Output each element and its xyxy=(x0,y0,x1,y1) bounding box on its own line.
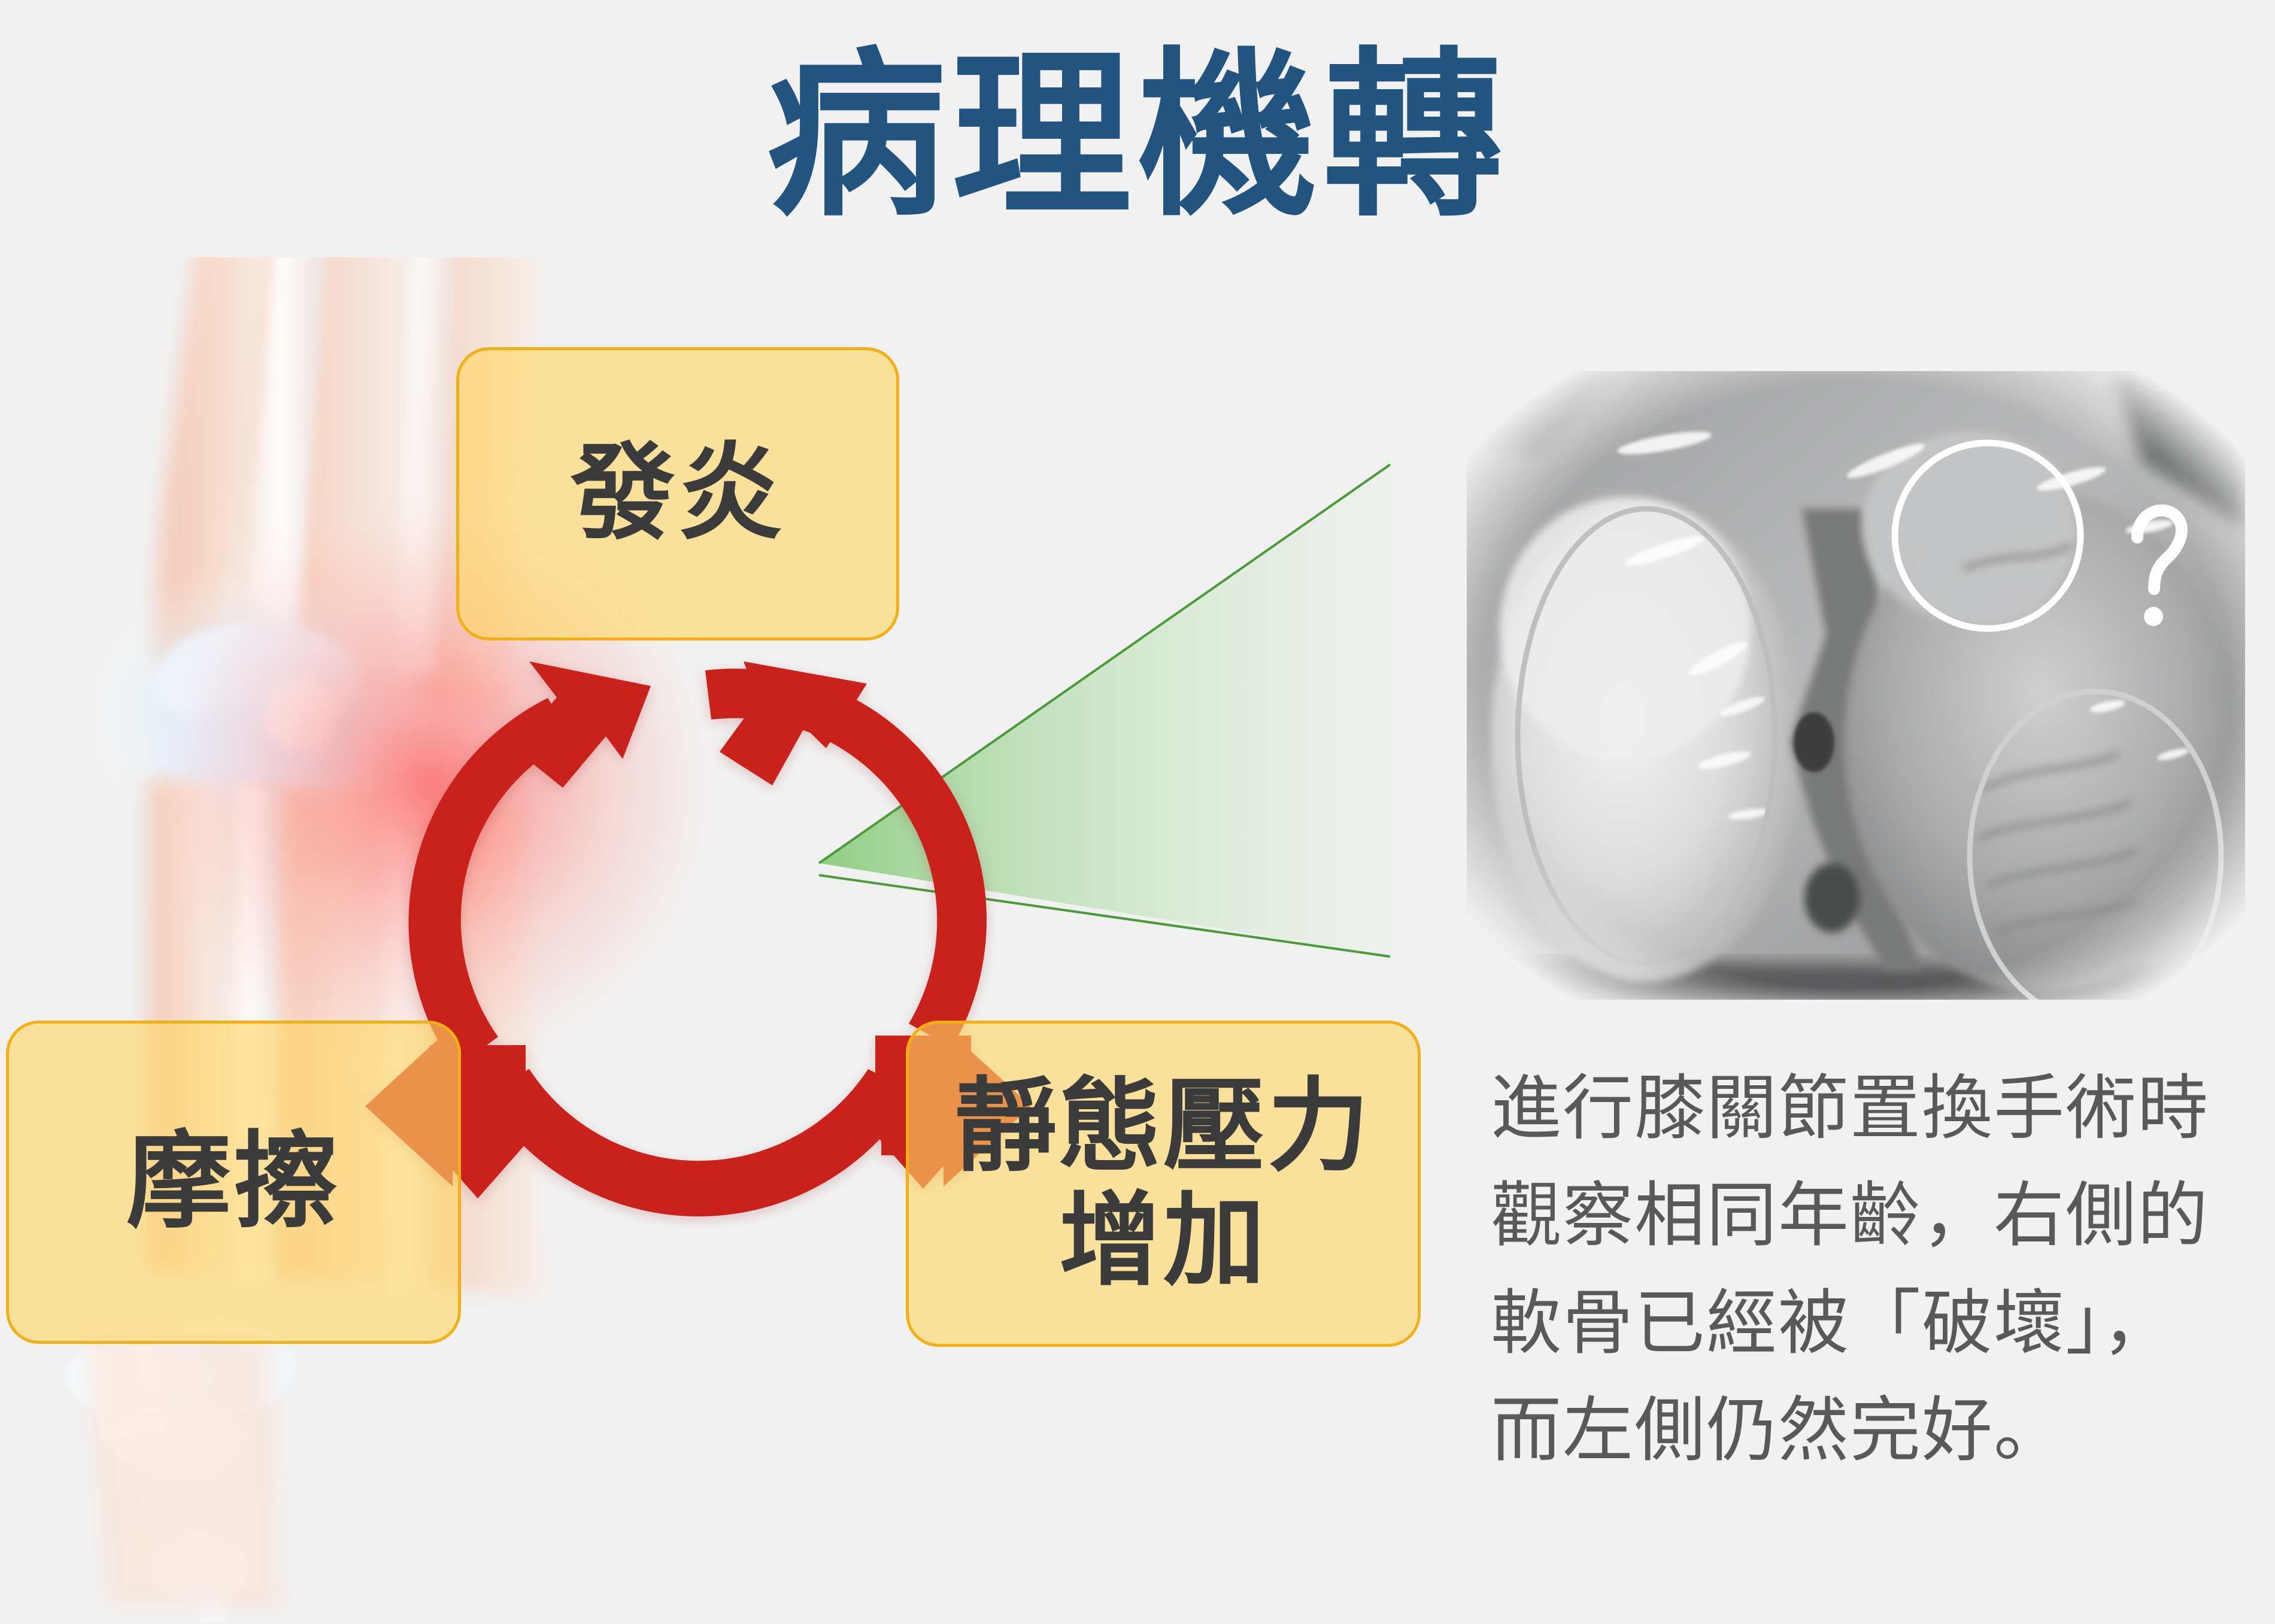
cycle-node-inflammation-label: 發炎 xyxy=(571,435,785,553)
caption-line-4: 而左側仍然完好。 xyxy=(1491,1377,2263,1484)
wedge-upper-line xyxy=(819,465,1390,863)
wedge-cone xyxy=(819,465,1390,957)
cycle-node-pressure-label-line1: 靜態壓力 xyxy=(955,1070,1372,1183)
page-title: 病理機轉 xyxy=(0,33,2275,239)
knee-replacement-surgery-photo xyxy=(1467,371,2245,1000)
cycle-node-friction-label: 摩擦 xyxy=(126,1124,341,1241)
notch-dark-hole xyxy=(1794,712,1834,772)
foot-soft-tissue xyxy=(84,1329,281,1610)
cycle-node-friction[interactable]: 摩擦 xyxy=(6,1021,461,1344)
caption-line-3: 軟骨已經被「破壞」， xyxy=(1491,1270,2263,1377)
annotation-question-mark-dot xyxy=(2144,607,2163,626)
cycle-node-inflammation[interactable]: 發炎 xyxy=(456,347,899,641)
cycle-node-pressure-label-line2: 增加 xyxy=(955,1184,1372,1298)
caption-line-1: 進行膝關節置換手術時 xyxy=(1491,1055,2263,1162)
slide-root: 病理機轉 xyxy=(0,0,2275,1624)
wedge-lower-line xyxy=(819,875,1390,957)
photo-caption: 進行膝關節置換手術時 觀察相同年齡，右側的 軟骨已經被「破壞」， 而左側仍然完好… xyxy=(1491,1055,2263,1484)
caption-line-2: 觀察相同年齡，右側的 xyxy=(1491,1162,2263,1269)
cycle-node-pressure[interactable]: 靜態壓力 增加 xyxy=(906,1021,1421,1347)
